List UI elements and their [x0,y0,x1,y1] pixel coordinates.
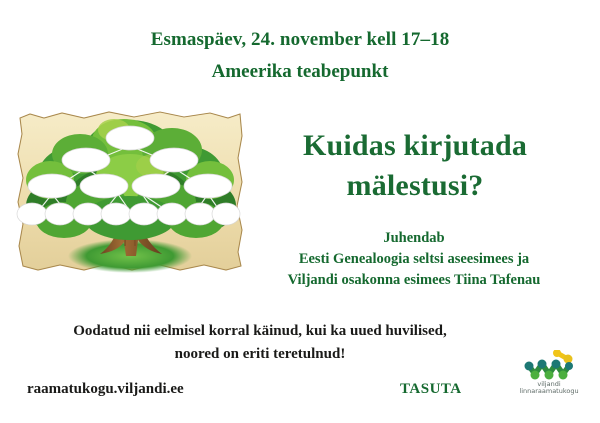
tree-oval [129,203,159,225]
poster-canvas: Esmaspäev, 24. november kell 17–18 Ameer… [0,0,600,423]
tree-oval [150,148,198,172]
event-datetime: Esmaspäev, 24. november kell 17–18 [0,28,600,52]
presenter-info: Juhendab Eesti Genealoogia seltsi aseesi… [230,228,598,291]
logo-text-line-2: linnaraamatukogu [513,388,585,395]
library-logo-text: viljandi linnaraamatukogu [513,381,585,396]
invitation-line-2: noored on eriti teretulnud! [0,343,520,366]
tree-oval [212,203,240,225]
logo-dots-w-icon [521,350,577,382]
page-title: Kuidas kirjutada mälestusi? [236,126,594,205]
event-venue: Ameerika teabepunkt [0,60,600,84]
tree-oval [184,174,232,198]
tree-oval [80,174,128,198]
tree-oval [17,203,47,225]
family-tree-illustration [14,106,246,278]
event-header: Esmaspäev, 24. november kell 17–18 Ameer… [0,28,600,84]
tree-oval [45,203,75,225]
price-free-label: TASUTA [400,381,462,398]
tree-oval [101,203,131,225]
tree-oval [132,174,180,198]
library-website-url[interactable]: raamatukogu.viljandi.ee [27,381,184,398]
tree-oval [185,203,215,225]
tree-oval [62,148,110,172]
library-logo-mark-icon [521,350,577,382]
presenter-label: Juhendab [230,228,598,249]
presenter-role-line-2: Viljandi osakonna esimees Tiina Tafenau [230,270,598,291]
page-title-line-2: mälestusi? [236,166,594,206]
invitation-line-1: Oodatud nii eelmisel korral käinud, kui … [0,320,520,343]
invitation-text: Oodatud nii eelmisel korral käinud, kui … [0,320,520,365]
tree-oval [73,203,103,225]
page-title-line-1: Kuidas kirjutada [236,126,594,166]
tree-oval [157,203,187,225]
presenter-role-line-1: Eesti Genealoogia seltsi aseesimees ja [230,249,598,270]
library-logo: viljandi linnaraamatukogu [513,350,585,402]
tree-oval [106,126,154,150]
family-tree-svg [14,106,246,278]
tree-oval [28,174,76,198]
